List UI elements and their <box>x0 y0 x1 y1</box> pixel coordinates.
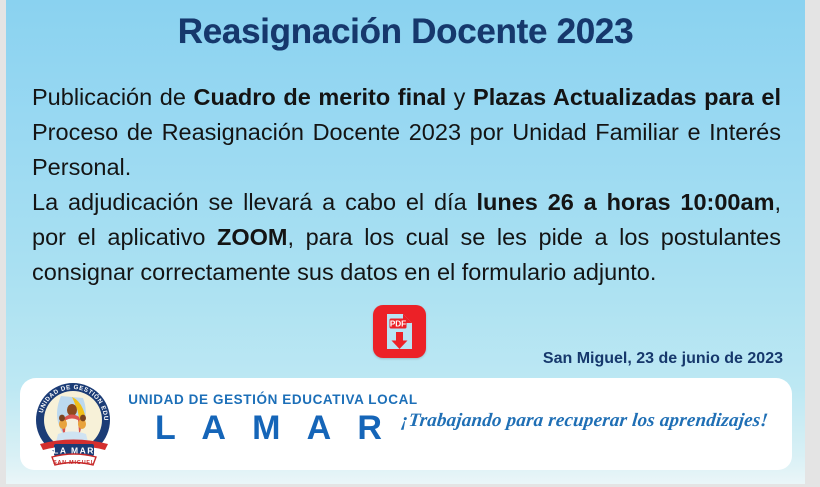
org-line-2: L A M A R <box>123 409 423 448</box>
p1-bold2: Plazas Actualizadas para el <box>473 84 781 110</box>
poster-canvas: Reasignación Docente 2023 Publicación de… <box>6 0 805 484</box>
paragraph-1: Publicación de Cuadro de merito final y … <box>32 80 781 185</box>
p2-seg1: La adjudicación se llevará a cabo el día <box>32 189 476 215</box>
org-name-block: UNIDAD DE GESTIÓN EDUCATIVA LOCAL L A M … <box>123 392 423 448</box>
paragraph-2: La adjudicación se llevará a cabo el día… <box>32 185 781 290</box>
date-place-line: San Miguel, 23 de junio de 2023 <box>543 350 783 368</box>
p1-bold1: Cuadro de merito final <box>194 84 447 110</box>
p2-bold2: ZOOM <box>217 224 288 250</box>
svg-text:PDF: PDF <box>390 320 406 329</box>
pdf-download-icon[interactable]: PDF <box>373 305 426 358</box>
p1-seg3: Proceso de Reasignación Docente 2023 por… <box>32 119 781 180</box>
p1-seg2: y <box>446 84 473 110</box>
org-line-1: UNIDAD DE GESTIÓN EDUCATIVA LOCAL <box>123 392 423 407</box>
page-title: Reasignación Docente 2023 <box>6 12 805 52</box>
announcement-body: Publicación de Cuadro de merito final y … <box>32 80 781 290</box>
p2-bold1: lunes 26 a horas 10:00am <box>476 189 774 215</box>
footer-slogan: ¡Trabajando para recuperar los aprendiza… <box>400 410 769 432</box>
p1-seg1: Publicación de <box>32 84 194 110</box>
ugel-seal-logo: UNIDAD DE GESTIÓN EDUCATIVA LOCAL LA MAR… <box>28 376 120 472</box>
footer-bar: UNIDAD DE GESTIÓN EDUCATIVA LOCAL LA MAR… <box>20 378 792 470</box>
svg-text:SAN MIGUEL: SAN MIGUEL <box>53 460 95 466</box>
